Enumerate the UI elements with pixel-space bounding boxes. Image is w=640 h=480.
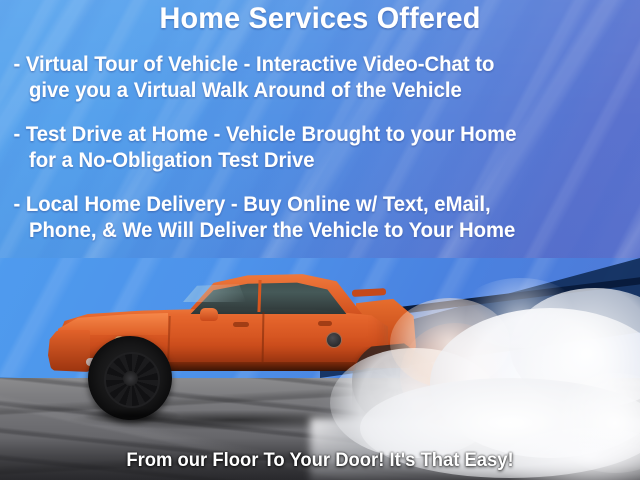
service-line-2: for a No-Obligation Test Drive [0,148,618,174]
front-tire-shadow [82,408,182,424]
service-line-2: give you a Virtual Walk Around of the Ve… [0,78,618,104]
services-list: - Virtual Tour of Vehicle - Interactive … [0,52,640,262]
door-handle [233,322,249,327]
side-mirror [200,308,218,321]
vehicle-photo [0,258,640,480]
list-item: - Test Drive at Home - Vehicle Brought t… [0,122,640,174]
challenger-car [0,258,640,480]
promo-banner: Home Services Offered - Virtual Tour of … [0,0,640,480]
page-title: Home Services Offered [13,2,627,36]
list-item: - Virtual Tour of Vehicle - Interactive … [0,52,640,104]
rear-hub [387,375,402,390]
front-hub [123,371,138,386]
service-line-1: - Test Drive at Home - Vehicle Brought t… [0,122,618,148]
rear-wheel [352,340,436,424]
service-line-1: - Virtual Tour of Vehicle - Interactive … [0,52,618,78]
fuel-cap [326,332,342,348]
service-line-1: - Local Home Delivery - Buy Online w/ Te… [0,192,618,218]
footer-tagline: From our Floor To Your Door! It's That E… [10,450,631,472]
list-item: - Local Home Delivery - Buy Online w/ Te… [0,192,640,244]
door-handle-rear [318,321,332,326]
car-spoiler [352,288,386,297]
service-line-2: Phone, & We Will Deliver the Vehicle to … [0,218,618,244]
window-glare [176,284,246,302]
car-front-bumper [48,330,90,372]
